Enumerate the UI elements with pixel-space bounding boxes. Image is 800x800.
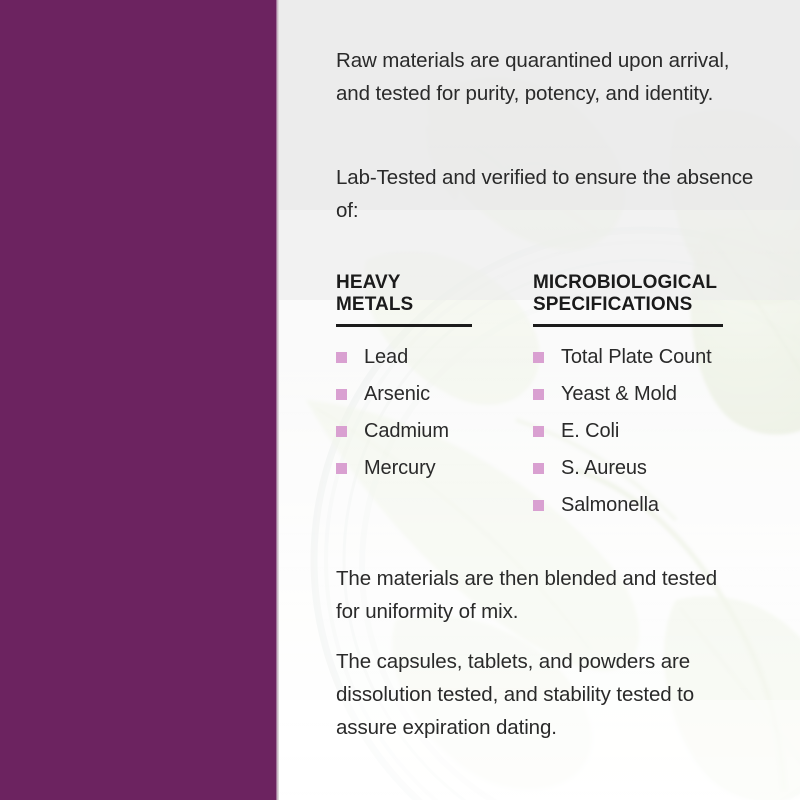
list-item: Salmonella — [533, 494, 758, 517]
square-bullet-icon — [533, 426, 544, 437]
left-purple-panel — [0, 0, 276, 800]
list-item-label: Mercury — [364, 457, 436, 480]
square-bullet-icon — [533, 463, 544, 474]
intro-paragraph-raw-materials: Raw materials are quarantined upon arriv… — [336, 44, 754, 110]
list-item-label: Salmonella — [561, 494, 659, 517]
column-rule-microbiological — [533, 324, 723, 327]
closing-paragraph-blending: The materials are then blended and teste… — [336, 562, 744, 628]
column-heavy-metals: HEAVY METALS Lead Arsenic Cadmium — [336, 272, 516, 494]
list-item-label: Yeast & Mold — [561, 383, 677, 406]
square-bullet-icon — [533, 500, 544, 511]
product-testing-standards-infographic: Raw materials are quarantined upon arriv… — [0, 0, 800, 800]
list-item: Mercury — [336, 457, 516, 480]
closing-paragraph-dissolution: The capsules, tablets, and powders are d… — [336, 645, 744, 744]
panel-divider — [276, 0, 279, 800]
square-bullet-icon — [336, 463, 347, 474]
list-item: Cadmium — [336, 420, 516, 443]
list-item: Total Plate Count — [533, 346, 758, 369]
column-heading-heavy-metals: HEAVY METALS — [336, 272, 516, 316]
square-bullet-icon — [533, 352, 544, 363]
list-heavy-metals: Lead Arsenic Cadmium Mercury — [336, 346, 516, 480]
square-bullet-icon — [336, 426, 347, 437]
list-item: S. Aureus — [533, 457, 758, 480]
list-item: Lead — [336, 346, 516, 369]
list-item-label: Lead — [364, 346, 408, 369]
list-item: Arsenic — [336, 383, 516, 406]
list-item-label: E. Coli — [561, 420, 619, 443]
list-item: E. Coli — [533, 420, 758, 443]
intro-paragraph-lab-tested: Lab-Tested and verified to ensure the ab… — [336, 161, 754, 227]
list-item-label: S. Aureus — [561, 457, 647, 480]
list-item-label: Cadmium — [364, 420, 449, 443]
list-item-label: Arsenic — [364, 383, 430, 406]
square-bullet-icon — [336, 389, 347, 400]
list-microbiological: Total Plate Count Yeast & Mold E. Coli S… — [533, 346, 758, 517]
square-bullet-icon — [336, 352, 347, 363]
column-rule-heavy-metals — [336, 324, 472, 327]
list-item-label: Total Plate Count — [561, 346, 712, 369]
list-item: Yeast & Mold — [533, 383, 758, 406]
column-heading-microbiological: MICROBIOLOGICAL SPECIFICATIONS — [533, 272, 758, 316]
right-panel-content: Raw materials are quarantined upon arriv… — [336, 0, 756, 800]
column-microbiological-specifications: MICROBIOLOGICAL SPECIFICATIONS Total Pla… — [533, 272, 758, 531]
square-bullet-icon — [533, 389, 544, 400]
